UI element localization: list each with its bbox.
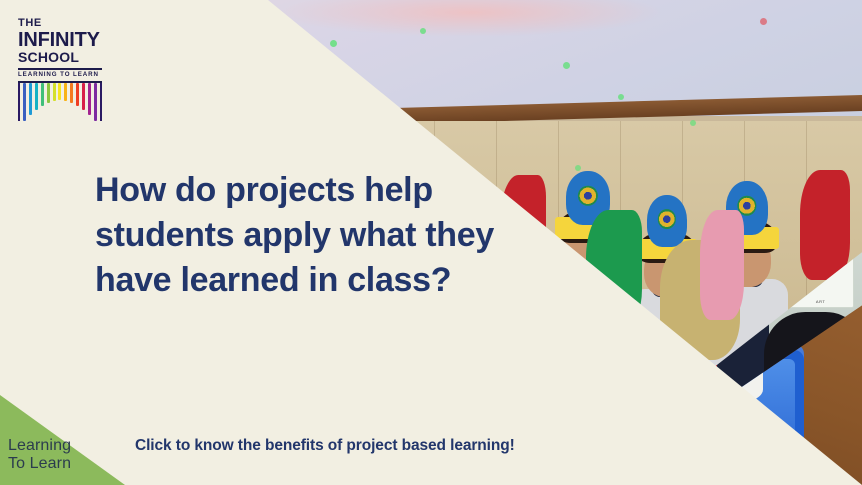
pink-drape: [700, 210, 744, 320]
confetti-dot: [420, 28, 426, 34]
tagline-badge: Learning To Learn: [8, 437, 71, 473]
confetti-dot: [618, 94, 624, 100]
confetti-dot: [575, 165, 581, 171]
confetti-dot: [563, 62, 570, 69]
school-logo[interactable]: THE INFINITY SCHOOL LEARNING TO LEARN: [18, 18, 102, 121]
tagline-badge-line1: Learning: [8, 437, 71, 455]
confetti-dot: [330, 40, 337, 47]
logo-bar: [29, 83, 32, 115]
page-title: How do projects help students apply what…: [95, 168, 495, 303]
cta-text[interactable]: Click to know the benefits of project ba…: [135, 437, 515, 455]
promo-banner: A ART Learning To Learn THE INFINITY SCH…: [0, 0, 862, 485]
logo-bar: [53, 83, 56, 101]
logo-bar: [58, 83, 61, 100]
logo-bar: [64, 83, 67, 101]
logo-bar: [82, 83, 85, 111]
logo-bar-frame-right: [100, 83, 102, 121]
logo-line-infinity: INFINITY: [18, 30, 102, 50]
logo-rainbow-bars-icon: [18, 83, 102, 121]
logo-divider: [18, 68, 102, 70]
logo-bar: [47, 83, 50, 103]
logo-line-the: THE: [18, 18, 102, 29]
logo-bar: [41, 83, 44, 107]
red-drape: [800, 170, 850, 280]
logo-bar-group: [23, 83, 97, 121]
logo-bar: [88, 83, 91, 115]
logo-bar: [23, 83, 26, 121]
logo-bar: [94, 83, 97, 121]
logo-bar-frame-left: [18, 83, 20, 121]
logo-line-school: SCHOOL: [18, 50, 102, 65]
confetti-dot: [760, 18, 767, 25]
logo-bar: [35, 83, 38, 111]
logo-bar: [76, 83, 79, 107]
logo-bar: [70, 83, 73, 103]
logo-tagline: LEARNING TO LEARN: [18, 72, 102, 78]
confetti-dot: [690, 120, 696, 126]
tagline-badge-line2: To Learn: [8, 455, 71, 473]
